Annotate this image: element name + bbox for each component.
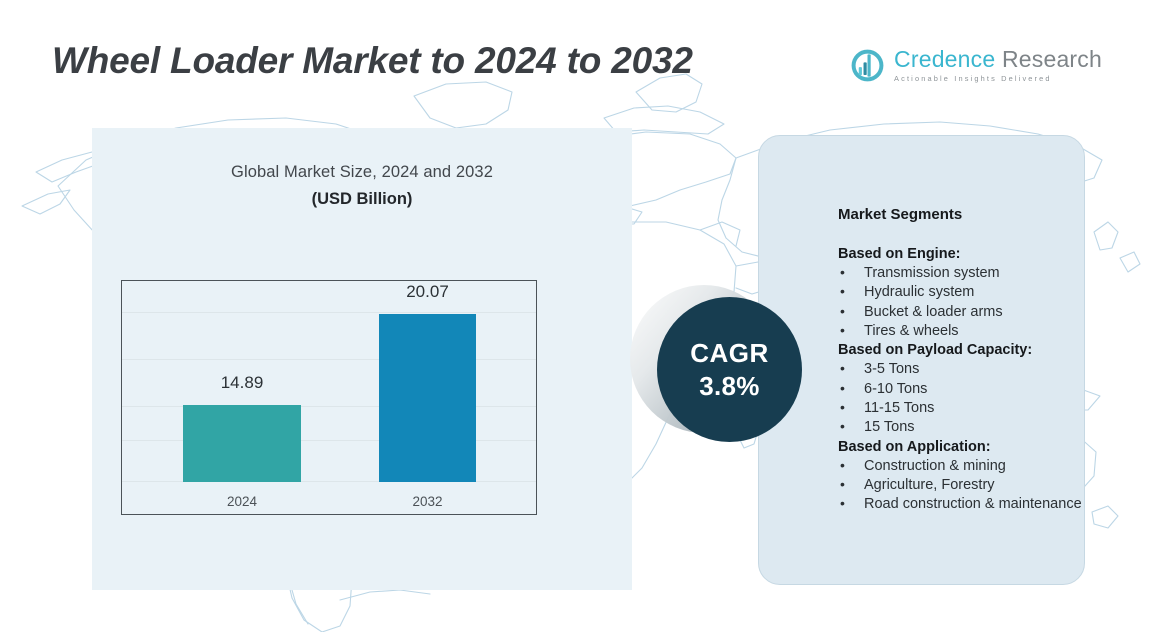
list-item: 15 Tons xyxy=(838,418,1088,437)
bar-label-2024: 2024 xyxy=(227,494,257,509)
bar-2032: 20.07 2032 xyxy=(379,314,476,482)
segment-list-payload: 3-5 Tons 6-10 Tons 11-15 Tons 15 Tons xyxy=(838,360,1088,437)
logo-tagline: Actionable Insights Delivered xyxy=(894,75,1102,82)
page-title: Wheel Loader Market to 2024 to 2032 xyxy=(52,40,693,82)
segment-list-engine: Transmission system Hydraulic system Buc… xyxy=(838,264,1088,341)
chart-title: Global Market Size, 2024 and 2032 xyxy=(92,163,632,182)
list-item: Tires & wheels xyxy=(838,322,1088,341)
chart-heading: Global Market Size, 2024 and 2032 (USD B… xyxy=(92,163,632,209)
list-item: 11-15 Tons xyxy=(838,399,1088,418)
cagr-circle: CAGR 3.8% xyxy=(657,297,802,442)
bar-label-2032: 2032 xyxy=(412,494,442,509)
list-item: Hydraulic system xyxy=(838,283,1088,302)
bar-chart-plot: 14.89 2024 20.07 2032 xyxy=(121,280,537,515)
cagr-value: 3.8% xyxy=(699,373,759,399)
segment-list-application: Construction & mining Agriculture, Fores… xyxy=(838,457,1088,515)
list-item: 6-10 Tons xyxy=(838,380,1088,399)
chart-subtitle: (USD Billion) xyxy=(92,190,632,209)
cagr-badge: CAGR 3.8% xyxy=(630,285,810,445)
bar-2024: 14.89 2024 xyxy=(183,405,301,482)
segments-title: Market Segments xyxy=(838,206,962,223)
list-item: Transmission system xyxy=(838,264,1088,283)
list-item: Agriculture, Forestry xyxy=(838,476,1088,495)
bar-value-2024: 14.89 xyxy=(221,373,264,393)
segments-body: Based on Engine: Transmission system Hyd… xyxy=(838,245,1088,514)
segment-group-heading-engine: Based on Engine: xyxy=(838,245,1088,264)
segment-group-heading-application: Based on Application: xyxy=(838,438,1088,457)
bar-value-2032: 20.07 xyxy=(406,282,449,302)
gridline xyxy=(122,312,536,313)
bar-rect-2032 xyxy=(379,314,476,482)
bar-rect-2024 xyxy=(183,405,301,482)
list-item: 3-5 Tons xyxy=(838,360,1088,379)
infographic-page: Wheel Loader Market to 2024 to 2032 Cred… xyxy=(0,0,1160,632)
list-item: Road construction & maintenance xyxy=(838,495,1088,514)
segment-group-heading-payload: Based on Payload Capacity: xyxy=(838,341,1088,360)
cagr-label: CAGR xyxy=(690,340,769,366)
bar-chart-circle-icon xyxy=(850,48,885,83)
list-item: Bucket & loader arms xyxy=(838,303,1088,322)
list-item: Construction & mining xyxy=(838,457,1088,476)
logo-name-part1: Credence xyxy=(894,46,995,72)
logo-name: Credence Research xyxy=(894,48,1102,71)
logo-text: Credence Research Actionable Insights De… xyxy=(894,48,1102,82)
brand-logo: Credence Research Actionable Insights De… xyxy=(850,48,1102,83)
logo-name-part2: Research xyxy=(1002,46,1102,72)
